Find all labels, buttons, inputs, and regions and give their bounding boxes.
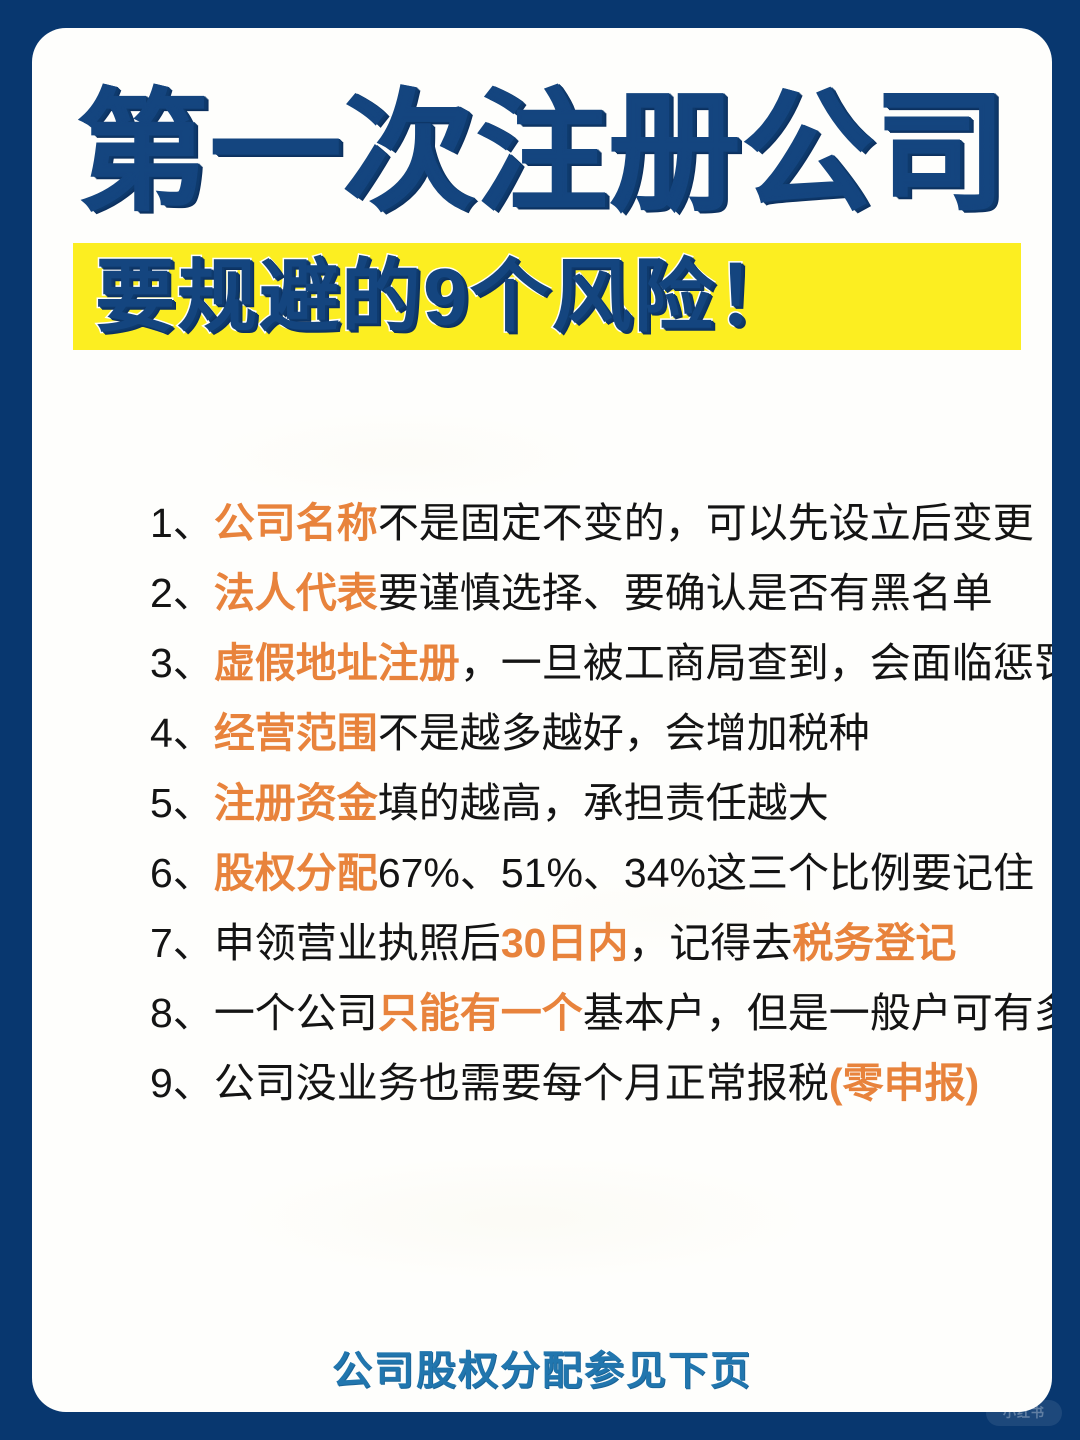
list-item-text: ，记得去 <box>628 920 792 966</box>
list-item-number: 3、 <box>150 640 214 686</box>
list-item-text: 要谨慎选择、要确认是否有黑名单 <box>378 570 993 616</box>
list-item-text: 填的越高，承担责任越大 <box>378 780 829 826</box>
list-item-number: 5、 <box>150 780 214 826</box>
list-item: 8、一个公司只能有一个基本户，但是一般户可有多个 <box>150 978 1052 1048</box>
risk-list: 1、公司名称不是固定不变的，可以先设立后变更2、法人代表要谨慎选择、要确认是否有… <box>32 488 1052 1118</box>
list-item-highlight-text: 税务登记 <box>792 920 956 966</box>
list-item-highlight-text: 注册资金 <box>214 780 378 826</box>
list-item: 5、注册资金填的越高，承担责任越大 <box>150 768 1052 838</box>
list-item-number: 4、 <box>150 710 214 756</box>
list-item-text: 67%、51%、34%这三个比例要记住 <box>378 850 1034 896</box>
list-item-number: 1、 <box>150 500 214 546</box>
list-item: 7、申领营业执照后30日内，记得去税务登记 <box>150 908 1052 978</box>
list-item: 1、公司名称不是固定不变的，可以先设立后变更 <box>150 488 1052 558</box>
list-item-number: 2、 <box>150 570 214 616</box>
poster-root: 第一次注册公司 要规避的9个风险！ 1、公司名称不是固定不变的，可以先设立后变更… <box>0 0 1080 1440</box>
list-item-highlight-text: 公司名称 <box>214 500 378 546</box>
subtitle-text: 要规避的9个风险！ <box>95 257 798 337</box>
list-item-text: 不是越多越好，会增加税种 <box>378 710 870 756</box>
list-item-number: 8、 <box>150 990 214 1036</box>
list-item-text: ，一旦被工商局查到，会面临惩罚 <box>460 640 1052 686</box>
list-item: 4、经营范围不是越多越好，会增加税种 <box>150 698 1052 768</box>
white-content-card: 第一次注册公司 要规避的9个风险！ 1、公司名称不是固定不变的，可以先设立后变更… <box>32 28 1052 1412</box>
list-item-text: 一个公司 <box>214 990 378 1036</box>
list-item: 2、法人代表要谨慎选择、要确认是否有黑名单 <box>150 558 1052 628</box>
list-item-highlight-text: 经营范围 <box>214 710 378 756</box>
list-item: 3、虚假地址注册，一旦被工商局查到，会面临惩罚 <box>150 628 1052 698</box>
list-item-highlight-text: 股权分配 <box>214 850 378 896</box>
list-item-text: 公司没业务也需要每个月正常报税 <box>214 1060 829 1106</box>
list-item-highlight-text: 法人代表 <box>214 570 378 616</box>
bottom-note: 公司股权分配参见下页 <box>32 1338 1052 1396</box>
list-item-highlight-text: (零申报) <box>829 1060 979 1106</box>
list-item-number: 6、 <box>150 850 214 896</box>
list-item-text: 基本户，但是一般户可有多个 <box>583 990 1052 1036</box>
list-item-number: 9、 <box>150 1060 214 1106</box>
xiaohongshu-watermark: 小红书 <box>986 1400 1062 1426</box>
page-title: 第一次注册公司 <box>32 84 1052 223</box>
list-item: 6、股权分配67%、51%、34%这三个比例要记住 <box>150 838 1052 908</box>
list-item-text: 不是固定不变的，可以先设立后变更 <box>378 500 1034 546</box>
list-item-highlight-text: 只能有一个 <box>378 990 583 1036</box>
subtitle-highlight-band: 要规避的9个风险！ <box>73 243 1021 350</box>
list-item-highlight-text: 虚假地址注册 <box>214 640 460 686</box>
list-item: 9、公司没业务也需要每个月正常报税(零申报) <box>150 1048 1052 1118</box>
list-item-highlight-text: 30日内 <box>501 920 629 966</box>
list-item-text: 申领营业执照后 <box>214 920 501 966</box>
list-item-number: 7、 <box>150 920 214 966</box>
